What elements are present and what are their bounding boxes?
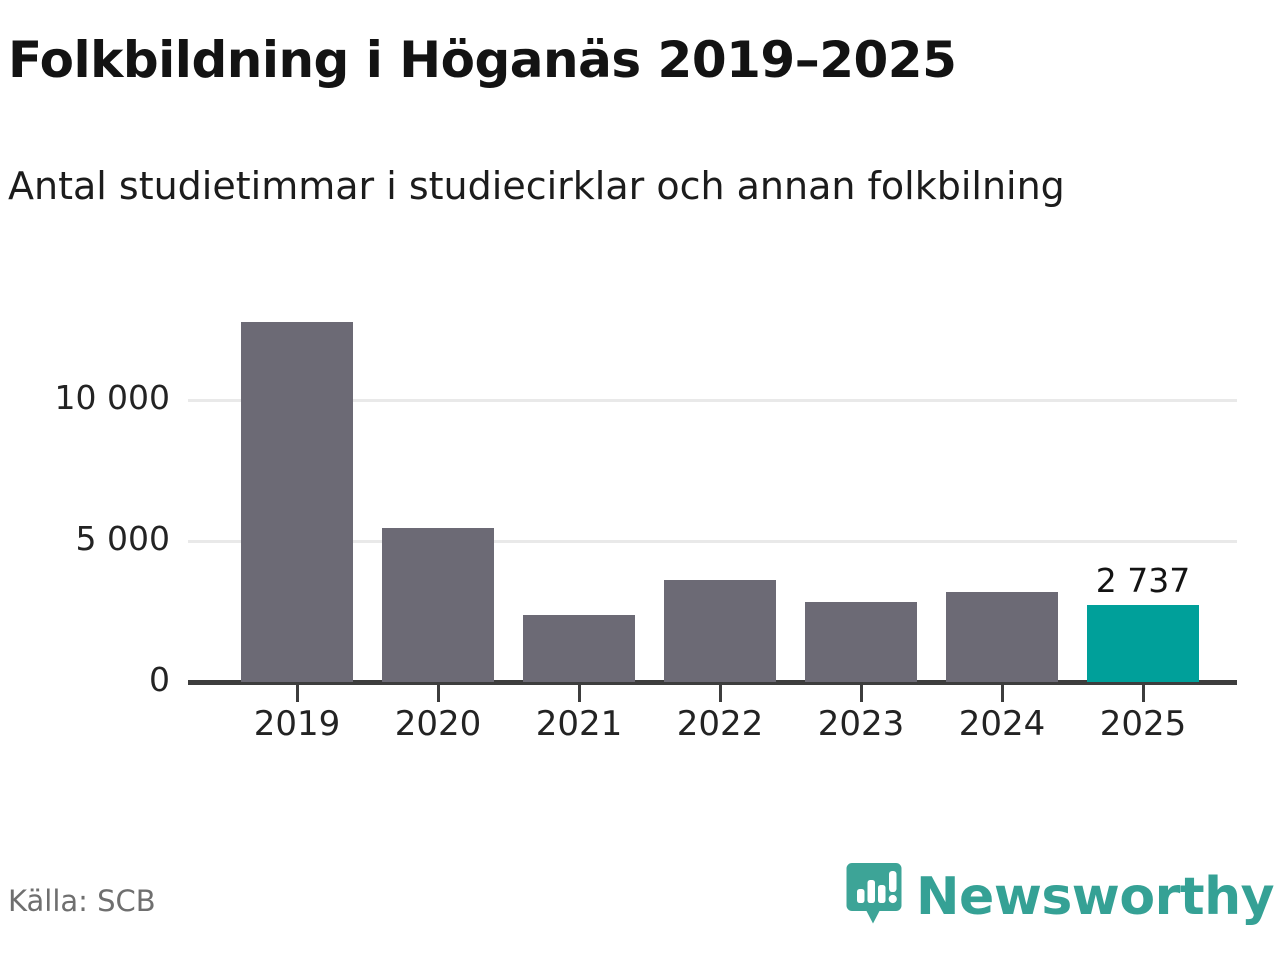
chart-card: Folkbildning i Höganäs 2019–2025 Antal s… [0, 0, 1280, 960]
bar-2023[interactable] [805, 602, 917, 682]
x-axis-tick-mark [719, 685, 722, 702]
bar-value-label-2025: 2 737 [1062, 561, 1224, 600]
newsworthy-logo: Newsworthy [846, 858, 1274, 936]
bar-2024[interactable] [946, 592, 1058, 682]
x-axis-label-2025: 2025 [1067, 704, 1219, 744]
y-axis-tick-label: 0 [10, 660, 170, 699]
source-note: Källa: SCB [8, 884, 156, 918]
y-axis-tick-label: 5 000 [10, 519, 170, 558]
x-axis-label-2020: 2020 [362, 704, 514, 744]
y-axis-tick-label: 10 000 [10, 378, 170, 417]
x-axis-tick-mark [860, 685, 863, 702]
bar-2020[interactable] [382, 528, 494, 682]
x-axis-tick-mark [1142, 685, 1145, 702]
x-axis-tick-mark [1001, 685, 1004, 702]
bar-2021[interactable] [523, 615, 635, 682]
x-axis-label-2024: 2024 [926, 704, 1078, 744]
x-axis-label-2023: 2023 [785, 704, 937, 744]
x-axis-tick-mark [437, 685, 440, 702]
x-axis-tick-mark [578, 685, 581, 702]
bar-2025[interactable] [1087, 605, 1199, 682]
bar-chart-plot: 05 00010 0002019202020212022202320242025… [0, 0, 1280, 960]
newsworthy-wordmark: Newsworthy [916, 871, 1274, 923]
newsworthy-bubble-barchart-icon [846, 862, 902, 932]
bar-2022[interactable] [664, 580, 776, 682]
x-axis-label-2019: 2019 [221, 704, 373, 744]
x-axis-label-2021: 2021 [503, 704, 655, 744]
x-axis-label-2022: 2022 [644, 704, 796, 744]
bar-2019[interactable] [241, 322, 353, 682]
x-axis-tick-mark [296, 685, 299, 702]
